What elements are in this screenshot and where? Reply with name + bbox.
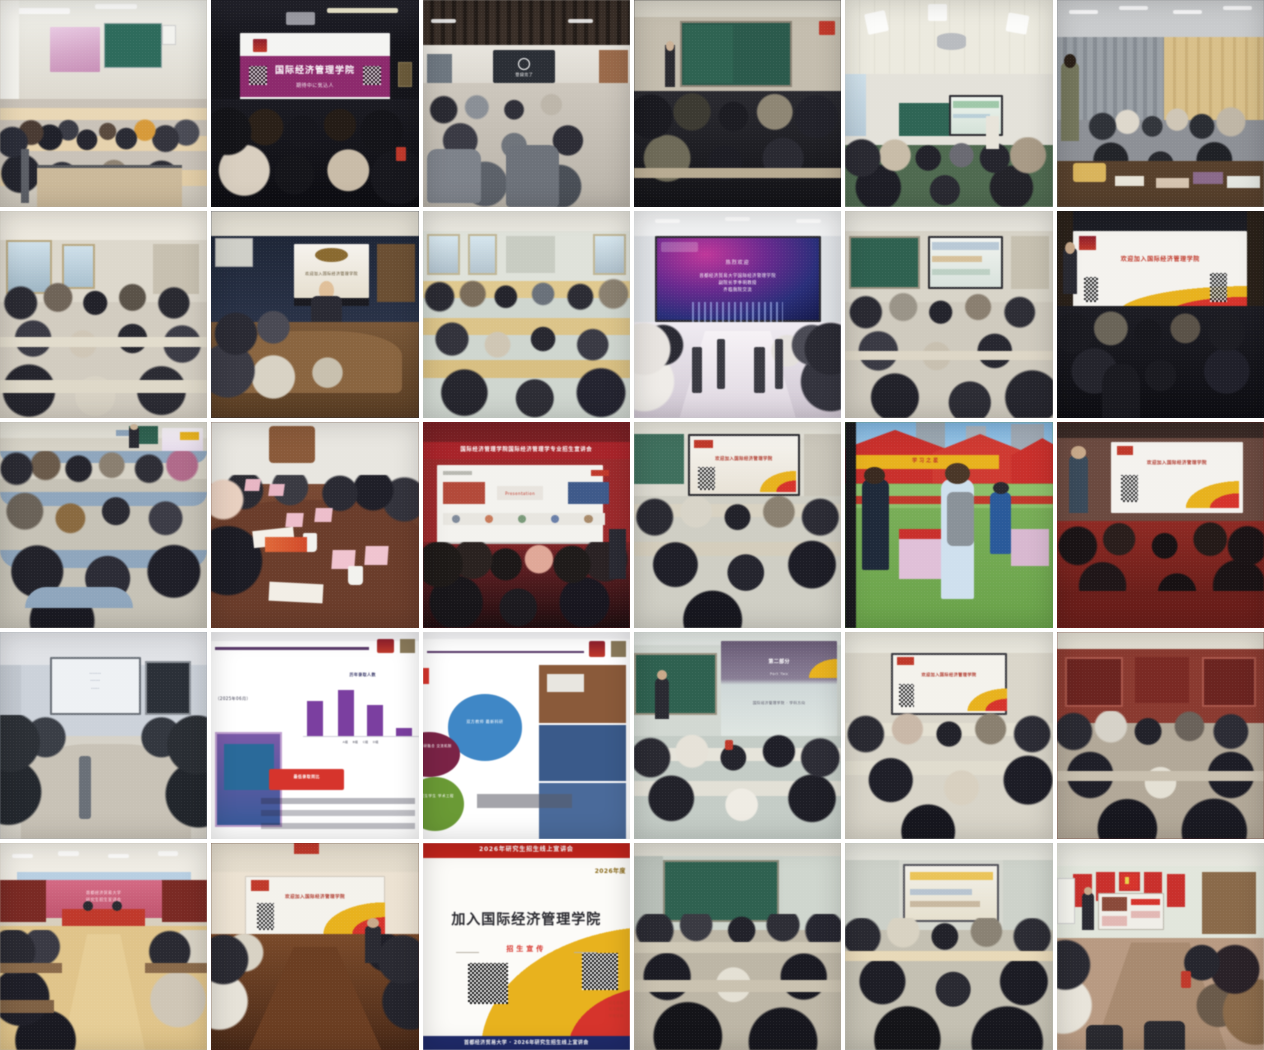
slide-detail-r2c4: 首都经济贸易大学国际经济管理学院 副院长李季明教授 齐临我院交流 xyxy=(655,273,821,294)
poster-year-r5c3: 2026年度 xyxy=(564,868,626,876)
slide-text-r2c2: 欢迎加入国际经济管理学院 xyxy=(294,271,369,276)
photo-cell-r4c1[interactable]: ·················· xyxy=(0,632,207,839)
bubble-3-r4c3: 研究生学生 学术工程 xyxy=(423,794,464,800)
photo-cell-r2c3[interactable] xyxy=(423,211,630,418)
slide-part-en-r4c4: Part Two xyxy=(721,672,837,677)
poster-banner-r5c3: 2026年研究生招生线上宣讲会 xyxy=(423,846,630,854)
bubble-2-r4c3: 学术 + 科研融合 交流机制 xyxy=(423,744,460,749)
slide-text-r4c5: 欢迎加入国际经济管理学院 xyxy=(891,672,1007,678)
stage-screen-text-r5c1: 首都经济贸易大学 研究生招生宣讲会 xyxy=(46,889,162,904)
slide-text-r3c6: 欢迎加入国际经济管理学院 xyxy=(1111,461,1244,467)
slide-text-r1c3: 登録完了 xyxy=(493,72,555,77)
photo-cell-r5c1[interactable]: 首都经济贸易大学 研究生招生宣讲会 xyxy=(0,843,207,1050)
photo-cell-r5c5[interactable] xyxy=(845,843,1052,1050)
photo-cell-r1c3[interactable]: 登録完了 xyxy=(423,0,630,207)
photo-cell-r4c5[interactable]: 欢迎加入国际经济管理学院 xyxy=(845,632,1052,839)
photo-cell-r1c4[interactable] xyxy=(634,0,841,207)
photo-cell-r1c5[interactable] xyxy=(845,0,1052,207)
slide-text-r3c4: 欢迎加入国际经济管理学院 xyxy=(688,457,800,463)
photo-cell-r2c5[interactable] xyxy=(845,211,1052,418)
chart-title-r4c2: 历年录取人数 xyxy=(327,672,397,677)
photo-cell-r3c5[interactable]: 学习之星 xyxy=(845,422,1052,629)
photo-cell-r3c3[interactable]: 国际经济管理学院国际经济管理学专业招生宣讲会 Presentation xyxy=(423,422,630,629)
tent-banner-r3c5: 学习之星 xyxy=(854,458,999,465)
photo-cell-r5c4[interactable] xyxy=(634,843,841,1050)
poster-footer-r5c3: 首都经济贸易大学 · 2026年研究生招生线上宣讲会 xyxy=(423,1040,630,1047)
photo-cell-r2c6[interactable]: 欢迎加入国际经济管理学院 xyxy=(1057,211,1264,418)
poster-title-r5c3: 加入国际经济管理学院 xyxy=(427,911,626,930)
photo-cell-r3c6[interactable]: 欢迎加入国际经济管理学院 xyxy=(1057,422,1264,629)
chart-note-r4c2: （2025年06月） xyxy=(215,696,281,701)
photo-cell-r5c6[interactable] xyxy=(1057,843,1264,1050)
photo-grid: 国际经济管理学院 期待中に気込人 登録完了 xyxy=(0,0,1264,1050)
photo-cell-r4c3[interactable]: 双方教师 最新科研 学术 + 科研融合 交流机制 研究生学生 学术工程 xyxy=(423,632,630,839)
photo-cell-r1c1[interactable] xyxy=(0,0,207,207)
photo-cell-r1c6[interactable] xyxy=(1057,0,1264,207)
banner-text-r3c3: 国际经济管理学院国际经济管理学专业招生宣讲会 xyxy=(423,447,630,454)
photo-cell-r1c2[interactable]: 国际经济管理学院 期待中に気込人 xyxy=(211,0,418,207)
slide-part-r4c4: 第二部分 xyxy=(721,659,837,666)
chart-button-r4c2: 最低录取同比 xyxy=(269,774,344,779)
photo-cell-r2c4[interactable]: 热烈欢迎 首都经济贸易大学国际经济管理学院 副院长李季明教授 齐临我院交流 xyxy=(634,211,841,418)
chart-xlabels-r4c2: A组 B组 C组 D组 xyxy=(303,740,419,744)
photo-cell-r2c1[interactable] xyxy=(0,211,207,418)
photo-cell-r4c2[interactable]: 历年录取人数 （2025年06月） A组 B组 C组 D组 最低录取同比 xyxy=(211,632,418,839)
photo-cell-r2c2[interactable]: 欢迎加入国际经济管理学院 xyxy=(211,211,418,418)
photo-cell-r3c2[interactable] xyxy=(211,422,418,629)
slide-body-r4c4: 国际经济管理学院 · 学科方向 xyxy=(721,701,837,706)
photo-cell-r3c4[interactable]: 欢迎加入国际经济管理学院 xyxy=(634,422,841,629)
slide-logo-text-r3c3: Presentation xyxy=(497,491,543,496)
photo-cell-r5c3[interactable]: 2026年研究生招生线上宣讲会 2026年度 加入国际经济管理学院 招生宣传 招… xyxy=(423,843,630,1050)
photo-cell-r3c1[interactable] xyxy=(0,422,207,629)
bubble-1-r4c3: 双方教师 最新科研 xyxy=(448,719,523,725)
photo-cell-r4c6[interactable] xyxy=(1057,632,1264,839)
photo-cell-r5c2[interactable]: 欢迎加入国际经济管理学院 xyxy=(211,843,418,1050)
slide-text-r2c6: 欢迎加入国际经济管理学院 xyxy=(1073,256,1247,264)
slide-welcome-r2c4: 热烈欢迎 xyxy=(655,260,821,267)
photo-cell-r4c4[interactable]: 第二部分 Part Two 国际经济管理学院 · 学科方向 xyxy=(634,632,841,839)
poster-contact-r5c3: 招生咨询官方微信学院官网 xyxy=(566,1000,624,1018)
slide-lines-r4c1: ·················· xyxy=(54,670,137,693)
